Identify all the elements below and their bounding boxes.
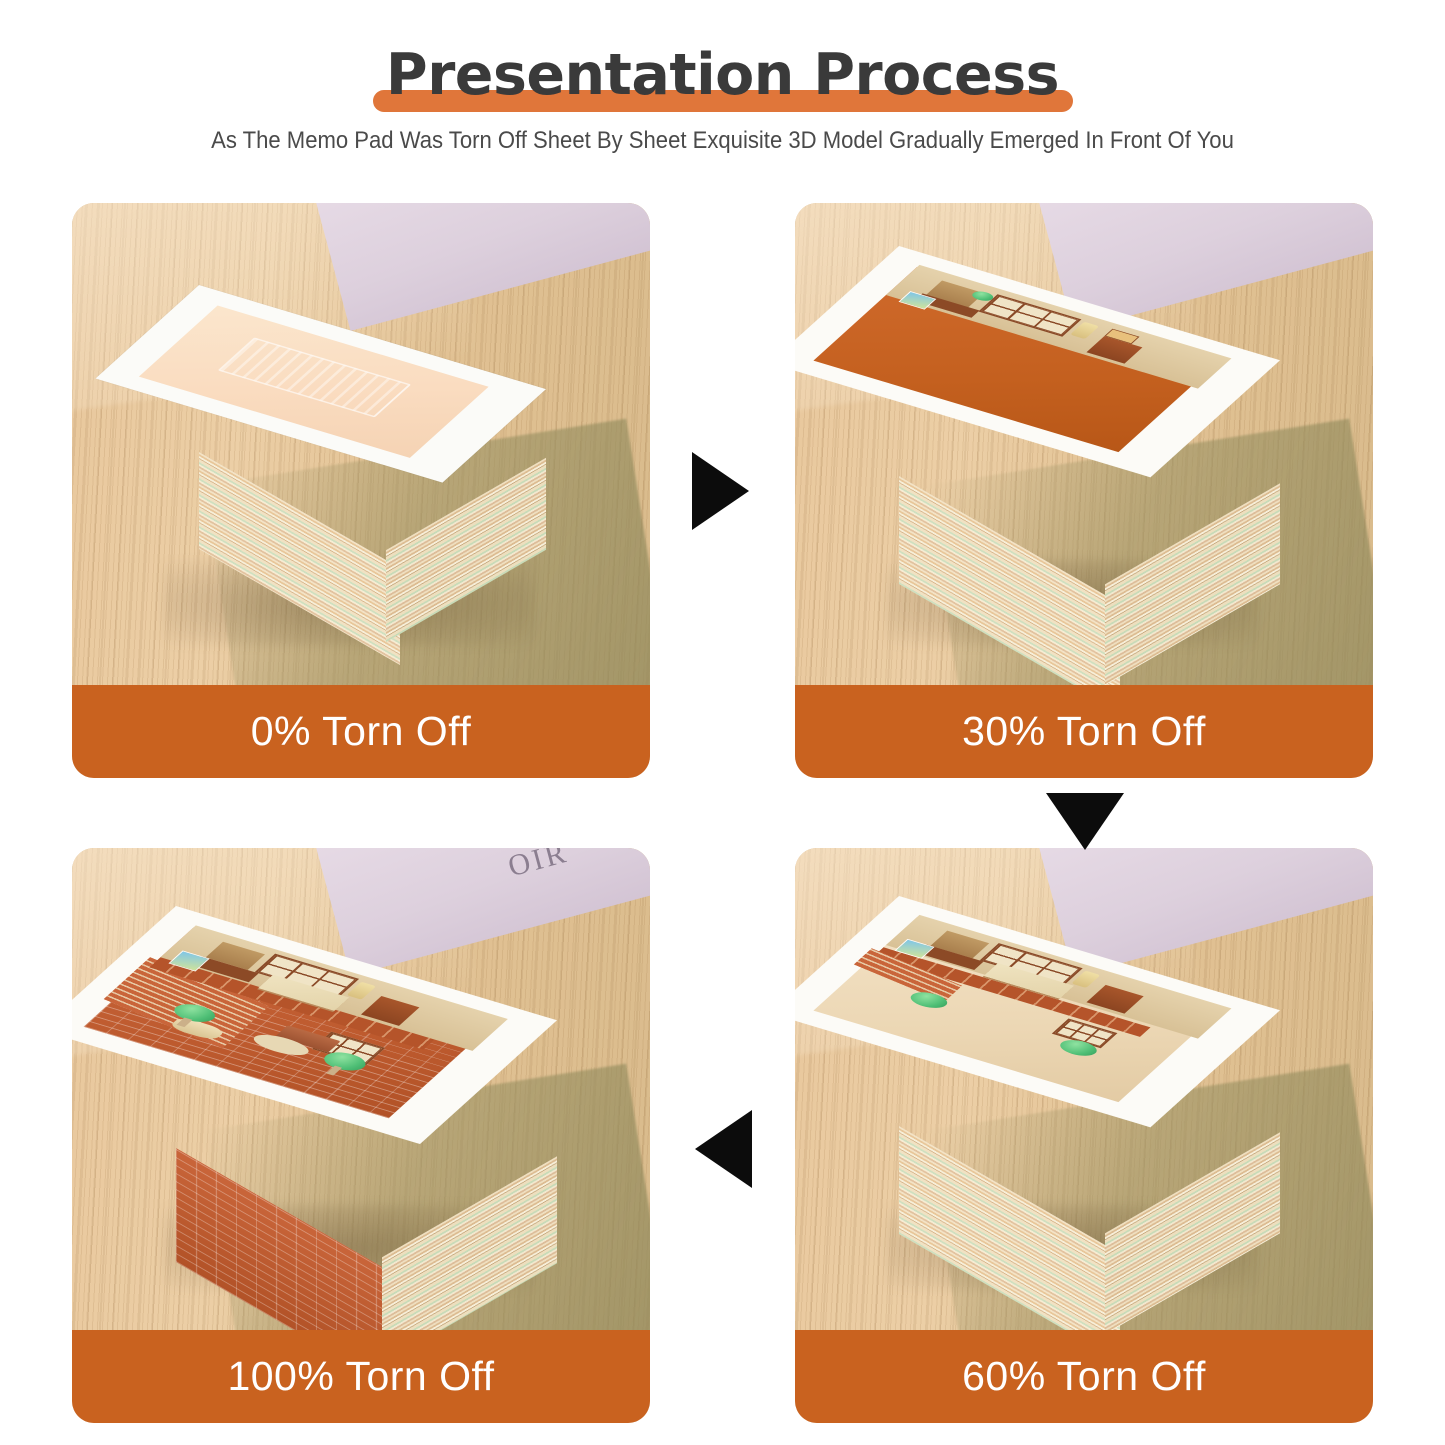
memo-pad-block bbox=[899, 896, 1280, 1233]
step-card-30[interactable]: 30% Torn Off bbox=[795, 203, 1373, 778]
step-label-60: 60% Torn Off bbox=[962, 1353, 1206, 1400]
memo-pad-block bbox=[899, 246, 1280, 583]
step-label-bar-0: 0% Torn Off bbox=[72, 685, 650, 778]
triangle-right-icon bbox=[692, 452, 749, 530]
page-subtitle: As The Memo Pad Was Torn Off Sheet By Sh… bbox=[58, 127, 1387, 155]
scene-100-percent: OIR bbox=[72, 848, 650, 1330]
header: Presentation Process As The Memo Pad Was… bbox=[0, 0, 1445, 185]
step-photo-100: OIR bbox=[72, 848, 650, 1330]
step-label-30: 30% Torn Off bbox=[962, 708, 1206, 755]
memo-pad-block bbox=[176, 906, 557, 1263]
step-card-100[interactable]: OIR bbox=[72, 848, 650, 1423]
step-card-60[interactable]: 60% Torn Off bbox=[795, 848, 1373, 1423]
scene-60-percent bbox=[795, 848, 1373, 1330]
page-title-wrap: Presentation Process bbox=[0, 42, 1445, 112]
step-photo-60 bbox=[795, 848, 1373, 1330]
step-photo-0 bbox=[72, 203, 650, 685]
step-label-bar-30: 30% Torn Off bbox=[795, 685, 1373, 778]
step-label-bar-100: 100% Torn Off bbox=[72, 1330, 650, 1423]
step-label-0: 0% Torn Off bbox=[251, 708, 472, 755]
step-label-bar-60: 60% Torn Off bbox=[795, 1330, 1373, 1423]
scene-closed-pad bbox=[72, 203, 650, 685]
page-title: Presentation Process bbox=[386, 42, 1059, 108]
triangle-left-icon bbox=[695, 1110, 752, 1188]
triangle-down-icon bbox=[1046, 793, 1124, 850]
scene-30-percent bbox=[795, 203, 1373, 685]
step-label-100: 100% Torn Off bbox=[227, 1353, 494, 1400]
embossed-outline bbox=[218, 337, 411, 417]
step-card-0[interactable]: 0% Torn Off bbox=[72, 203, 650, 778]
presentation-process-infographic: Presentation Process As The Memo Pad Was… bbox=[0, 0, 1445, 1445]
memo-pad-block bbox=[199, 285, 546, 555]
step-photo-30 bbox=[795, 203, 1373, 685]
